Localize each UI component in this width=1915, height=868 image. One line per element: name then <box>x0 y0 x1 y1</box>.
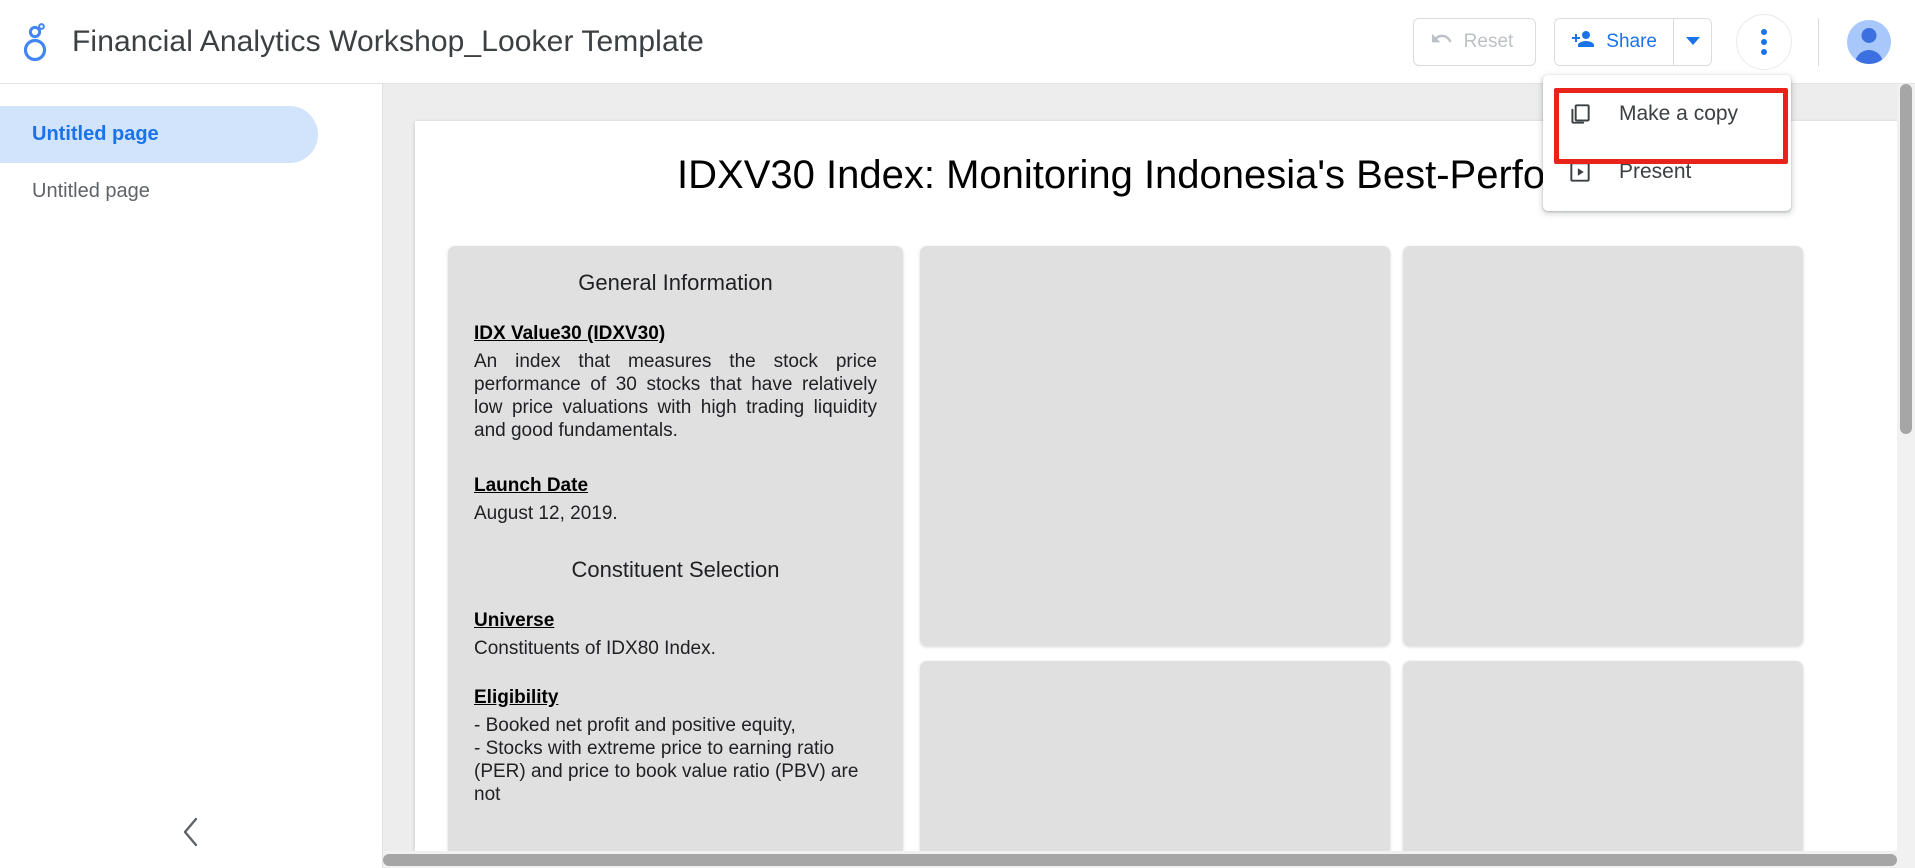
share-button-group: Share <box>1554 18 1712 66</box>
reset-label: Reset <box>1464 31 1514 53</box>
sidebar-item-label: Untitled page <box>32 123 159 146</box>
avatar[interactable] <box>1847 20 1891 64</box>
vertical-scrollbar[interactable] <box>1897 84 1915 868</box>
header-divider <box>1818 18 1819 66</box>
subheading-eligibility: Eligibility <box>474 684 877 712</box>
chart-placeholder-3[interactable] <box>920 661 1390 868</box>
body-eligibility-line-1: - Booked net profit and positive equity, <box>474 714 877 737</box>
body-universe: Constituents of IDX80 Index. <box>474 637 877 660</box>
overflow-menu: Make a copy Present <box>1543 75 1791 211</box>
caret-down-icon <box>1686 33 1700 51</box>
looker-studio-app: Financial Analytics Workshop_Looker Temp… <box>0 0 1915 868</box>
subheading-idx-value30: IDX Value30 (IDXV30) <box>474 320 877 348</box>
sidebar-item-label: Untitled page <box>32 180 150 203</box>
menu-item-label: Make a copy <box>1619 102 1738 126</box>
panel-heading-constituent-selection: Constituent Selection <box>474 555 877 585</box>
chevron-left-icon <box>182 817 200 852</box>
subheading-launch-date: Launch Date <box>474 472 877 500</box>
body-eligibility-line-3: (PER) and price to book value ratio (PBV… <box>474 760 877 806</box>
more-options-button[interactable] <box>1736 14 1792 70</box>
pages-sidebar: Untitled page Untitled page <box>0 84 383 868</box>
vertical-scrollbar-thumb[interactable] <box>1900 84 1912 434</box>
share-label: Share <box>1606 31 1657 53</box>
copy-icon <box>1567 101 1593 127</box>
more-vert-icon <box>1761 29 1767 35</box>
reset-button[interactable]: Reset <box>1413 18 1537 66</box>
menu-item-make-a-copy[interactable]: Make a copy <box>1543 85 1791 143</box>
sidebar-item-page-1[interactable]: Untitled page <box>0 106 318 163</box>
app-header: Financial Analytics Workshop_Looker Temp… <box>0 0 1915 84</box>
chart-placeholder-1[interactable] <box>920 246 1390 646</box>
page-list: Untitled page Untitled page <box>0 84 382 220</box>
looker-studio-logo-icon <box>0 22 72 62</box>
header-actions: Reset Share <box>1413 0 1915 83</box>
share-button[interactable]: Share <box>1555 19 1673 65</box>
chart-placeholder-2[interactable] <box>1403 246 1803 646</box>
report-page: IDXV30 Index: Monitoring Indonesia's Bes… <box>415 121 1915 868</box>
sidebar-item-page-2[interactable]: Untitled page <box>0 163 318 220</box>
collapse-sidebar-button[interactable] <box>0 800 382 868</box>
share-dropdown-button[interactable] <box>1673 19 1711 65</box>
body-eligibility-line-2: - Stocks with extreme price to earning r… <box>474 737 877 760</box>
horizontal-scrollbar[interactable] <box>383 851 1897 868</box>
undo-icon <box>1430 27 1453 56</box>
menu-item-present[interactable]: Present <box>1543 143 1791 201</box>
subheading-universe: Universe <box>474 607 877 635</box>
page-title[interactable]: Financial Analytics Workshop_Looker Temp… <box>72 24 704 60</box>
general-information-panel[interactable]: General Information IDX Value30 (IDXV30)… <box>448 246 903 868</box>
body-launch-date: August 12, 2019. <box>474 502 877 525</box>
menu-item-label: Present <box>1619 160 1691 184</box>
horizontal-scrollbar-thumb[interactable] <box>383 854 1897 866</box>
play-box-icon <box>1567 159 1593 185</box>
body-idx-value30: An index that measures the stock price p… <box>474 350 877 442</box>
chart-placeholder-4[interactable] <box>1403 661 1803 868</box>
panel-heading-general-information: General Information <box>474 268 877 298</box>
person-add-icon <box>1571 27 1595 56</box>
